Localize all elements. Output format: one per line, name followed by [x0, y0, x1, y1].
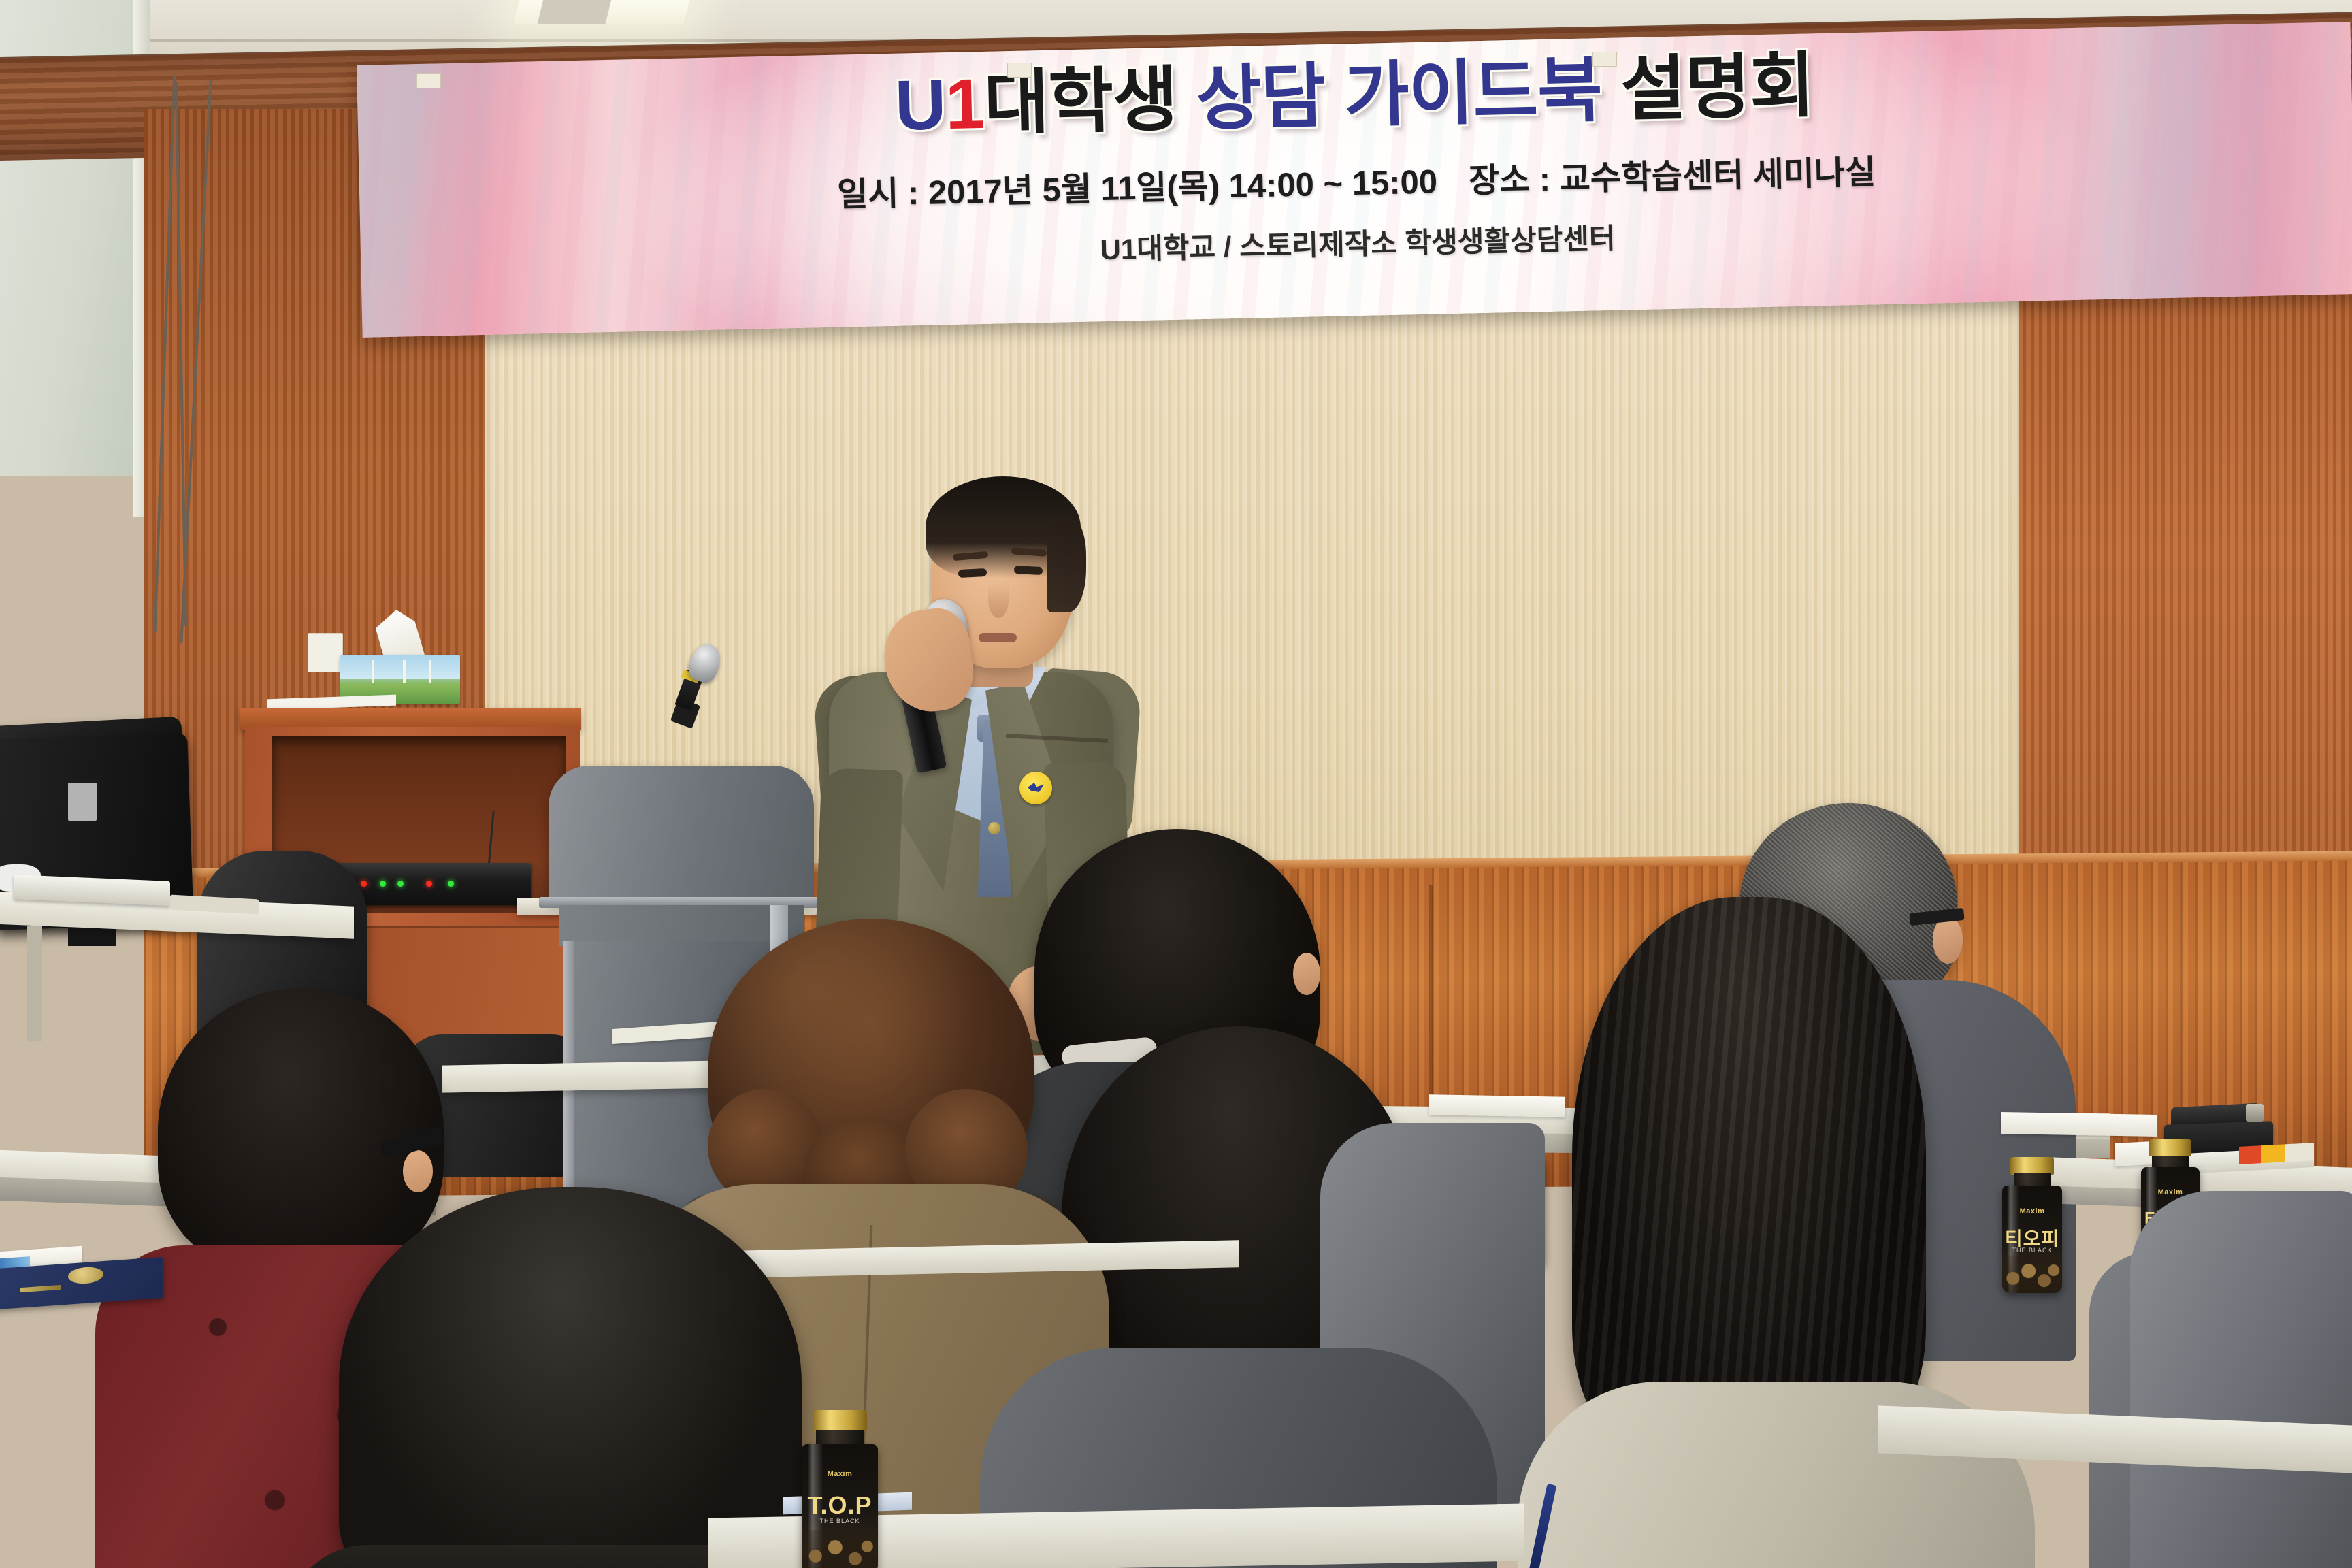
- coffee-bottle[interactable]: Maxim 티오피 THE BLACK: [2002, 1157, 2062, 1293]
- banner-title-sangdam: 상담: [1196, 57, 1326, 139]
- bottle-bean-graphic: [2002, 1256, 2062, 1293]
- papers-on-desk: [2001, 1112, 2157, 1137]
- speaker-hair-side: [1047, 517, 1086, 612]
- audience-member-body: [2130, 1191, 2352, 1568]
- bottle-brand: Maxim: [2002, 1207, 2062, 1215]
- banner-clip: [416, 73, 441, 88]
- bottle-brand: Maxim: [802, 1470, 878, 1478]
- banner-place-label: 장소 : 교수학습센터 세미나실: [1468, 154, 1876, 200]
- bottle-cap: [2149, 1139, 2191, 1156]
- speaker-mouth: [979, 633, 1017, 642]
- banner-title-seolmyeonghoe: 설명회: [1620, 46, 1815, 129]
- ceiling-light-fixture: [513, 0, 691, 24]
- podium-top: [549, 766, 814, 902]
- seminar-photo: U1대학생 상담 가이드북 설명회 일시 : 2017년 5월 11일(목) 1…: [0, 0, 2352, 1568]
- speaker-nose: [988, 583, 1009, 618]
- desk-leg: [27, 926, 42, 1041]
- bottle-product-name: T.O.P: [802, 1491, 878, 1520]
- banner-organizers: U1대학교 / 스토리제작소 학생생활상담센터: [1100, 216, 1616, 269]
- audience-member-ear: [1293, 953, 1320, 995]
- bottle-body: Maxim T.O.P THE BLACK: [802, 1444, 878, 1568]
- speaker-jacket-button: [988, 822, 1000, 834]
- monitor-label-sticker: [68, 783, 97, 821]
- wall-switch-plate[interactable]: [308, 633, 343, 672]
- speaker-eye-right: [1014, 566, 1043, 575]
- podium-neck: [559, 905, 804, 946]
- event-banner: U1대학생 상담 가이드북 설명회 일시 : 2017년 5월 11일(목) 1…: [357, 22, 2352, 338]
- bottle-cap: [813, 1410, 868, 1431]
- audience-member-ear: [1933, 916, 1963, 964]
- banner-title: U1대학생 상담 가이드북 설명회: [894, 48, 1815, 144]
- banner-title-u: U: [894, 65, 947, 146]
- banner-date-label: 일시 : 2017년 5월 11일(목) 14:00 ~ 15:00: [837, 164, 1438, 214]
- bottle-cap: [2010, 1157, 2053, 1175]
- audience-member-head: [158, 988, 444, 1274]
- lapel-badge-icon: [1019, 772, 1052, 804]
- banner-title-one: 1: [945, 65, 985, 144]
- banner-clip: [1592, 52, 1617, 67]
- banner-title-guidebook: 가이드북: [1343, 51, 1603, 135]
- coffee-bottle[interactable]: Maxim T.O.P THE BLACK: [802, 1410, 878, 1568]
- audience-member-ear: [403, 1150, 433, 1192]
- bottle-bean-graphic: [802, 1530, 878, 1568]
- papers-on-desk: [1429, 1094, 1565, 1117]
- bottle-body: Maxim 티오피 THE BLACK: [2002, 1186, 2062, 1293]
- speaker-eye-left: [958, 568, 987, 578]
- audience-member-head: [339, 1187, 802, 1568]
- banner-datetime-and-place: 일시 : 2017년 5월 11일(목) 14:00 ~ 15:00장소 : 교…: [836, 146, 1876, 216]
- banner-clip: [1007, 63, 1032, 78]
- case-clasp: [2246, 1104, 2264, 1122]
- bottle-variant: THE BLACK: [802, 1518, 878, 1524]
- bottle-variant: THE BLACK: [2002, 1247, 2062, 1254]
- audience-member-head: [1572, 897, 1926, 1462]
